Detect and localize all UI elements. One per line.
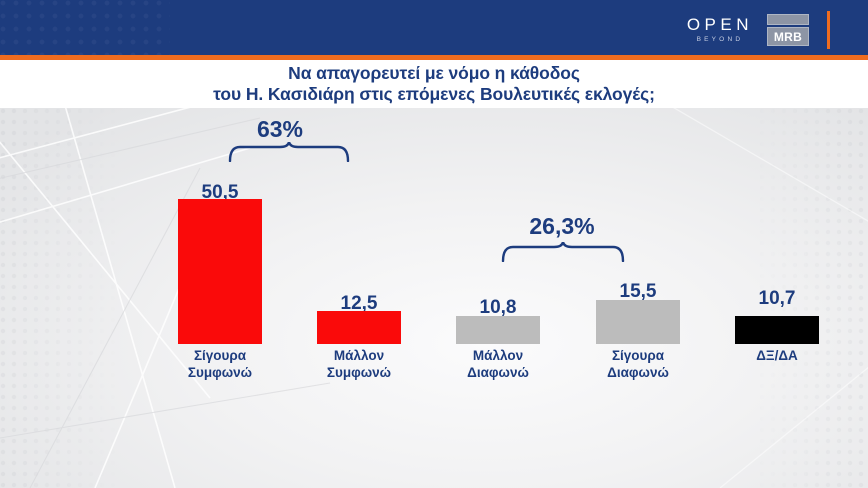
bar-label-3-line1: Σίγουρα <box>566 348 710 365</box>
bar-label-4-line1: ΔΞ/ΔΑ <box>705 348 849 365</box>
bar-label-3-line2: Διαφωνώ <box>566 365 710 382</box>
bar-label-4: ΔΞ/ΔΑ <box>705 348 849 365</box>
orange-divider <box>827 11 830 49</box>
bar-1 <box>317 311 401 344</box>
header-bar: OPEN BEYOND MRB <box>0 0 868 55</box>
bar-label-1-line1: Μάλλον <box>287 348 431 365</box>
question-title: Να απαγορευτεί με νόμο η κάθοδος του Η. … <box>0 60 868 108</box>
bar-label-2-line2: Διαφωνώ <box>426 365 570 382</box>
group-percentage-agree: 63% <box>215 116 345 143</box>
bar-label-0-line1: Σίγουρα <box>148 348 292 365</box>
bar-2 <box>456 316 540 344</box>
bar-0 <box>178 199 262 344</box>
bar-label-1: Μάλλον Συμφωνώ <box>287 348 431 381</box>
poll-result-graphic: OPEN BEYOND MRB Να απαγορευτεί με νόμο η… <box>0 0 868 488</box>
bar-label-0: Σίγουρα Συμφωνώ <box>148 348 292 381</box>
bar-label-3: Σίγουρα Διαφωνώ <box>566 348 710 381</box>
beyond-logo-text: BEYOND <box>693 37 744 44</box>
chart-area: 63% 26,3% 50,5 Σίγουρα Συμφωνώ 12,5 Μάλλ… <box>0 108 868 488</box>
open-logo-text: OPEN <box>683 16 753 33</box>
group-bracket-disagree <box>501 242 625 262</box>
broadcaster-logos: OPEN BEYOND MRB <box>683 11 830 49</box>
mrb-logo-text: MRB <box>767 27 809 46</box>
group-bracket-agree <box>228 142 350 162</box>
bar-4 <box>735 316 819 344</box>
mrb-logo: MRB <box>767 14 809 46</box>
bar-label-2-line1: Μάλλον <box>426 348 570 365</box>
mrb-logo-bar <box>767 14 809 25</box>
bar-chart-plot: 63% 26,3% 50,5 Σίγουρα Συμφωνώ 12,5 Μάλλ… <box>0 108 868 488</box>
bar-label-2: Μάλλον Διαφωνώ <box>426 348 570 381</box>
bar-3 <box>596 300 680 344</box>
open-beyond-logo: OPEN BEYOND <box>683 16 753 44</box>
group-percentage-disagree: 26,3% <box>497 213 627 240</box>
question-title-line-1: Να απαγορευτεί με νόμο η κάθοδος <box>288 63 580 84</box>
bar-label-1-line2: Συμφωνώ <box>287 365 431 382</box>
bar-value-4: 10,7 <box>735 288 819 310</box>
bar-label-0-line2: Συμφωνώ <box>148 365 292 382</box>
question-title-line-2: του Η. Κασιδιάρη στις επόμενες Βουλευτικ… <box>213 84 655 105</box>
